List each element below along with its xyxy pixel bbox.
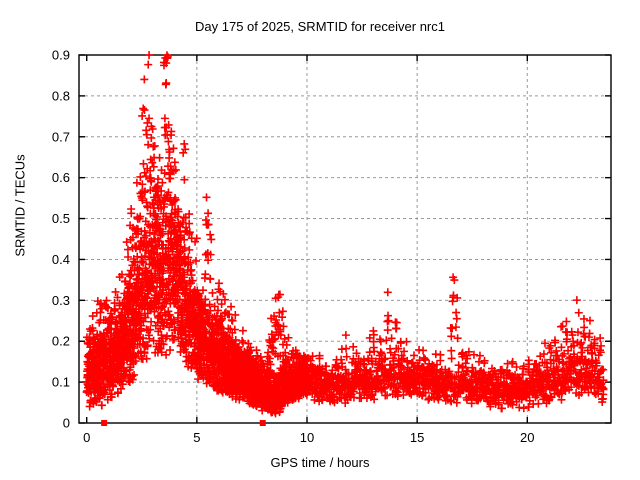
- scatter-plot: 00.10.20.30.40.50.60.70.80.905101520: [0, 0, 640, 480]
- svg-text:20: 20: [520, 430, 534, 445]
- svg-text:10: 10: [300, 430, 314, 445]
- svg-text:0.4: 0.4: [52, 252, 70, 267]
- svg-text:0.9: 0.9: [52, 48, 70, 63]
- svg-text:0.2: 0.2: [52, 334, 70, 349]
- zero-value-marker: [260, 420, 266, 426]
- svg-text:0.5: 0.5: [52, 211, 70, 226]
- svg-text:0.8: 0.8: [52, 88, 70, 103]
- svg-text:0: 0: [63, 416, 70, 431]
- svg-text:0.3: 0.3: [52, 293, 70, 308]
- svg-text:0: 0: [83, 430, 90, 445]
- svg-text:0.7: 0.7: [52, 129, 70, 144]
- data-points: [82, 51, 607, 417]
- svg-text:0.6: 0.6: [52, 170, 70, 185]
- chart-container: Day 175 of 2025, SRMTID for receiver nrc…: [0, 0, 640, 480]
- zero-value-marker: [101, 420, 107, 426]
- svg-text:15: 15: [410, 430, 424, 445]
- svg-text:0.1: 0.1: [52, 375, 70, 390]
- svg-text:5: 5: [193, 430, 200, 445]
